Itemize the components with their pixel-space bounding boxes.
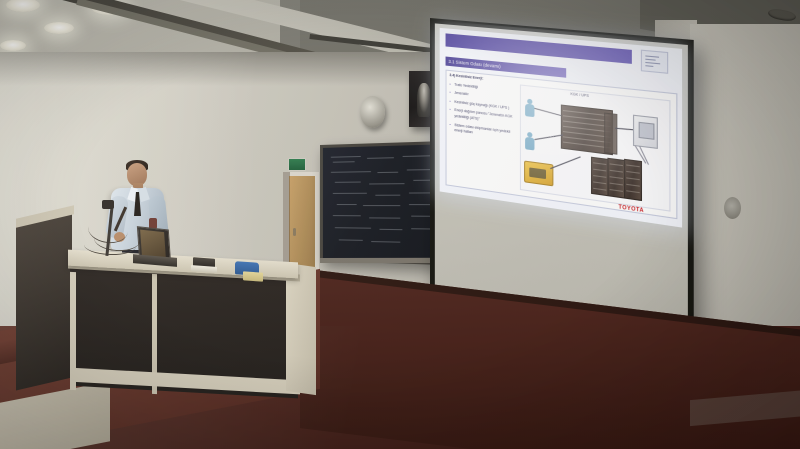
downlight-icon xyxy=(0,40,26,51)
lecture-hall-photo: 3.1 Sistem Odası (devamı) 3.4) Kesintisi… xyxy=(0,0,800,449)
generator-icon xyxy=(524,161,553,187)
podium-left-wing xyxy=(16,208,72,391)
clock-face-icon xyxy=(724,197,741,219)
server-rack-icon xyxy=(607,158,625,199)
server-rack-icon xyxy=(591,157,609,197)
portrait-figure xyxy=(417,83,431,117)
slide-bullet-list: 3.4) Kesintisiz Enerji: Trafo Yedekliliğ… xyxy=(449,73,515,191)
exit-sign-icon xyxy=(288,158,306,171)
door-handle[interactable] xyxy=(293,228,296,236)
personnel-icon xyxy=(525,98,534,117)
slide-diagram xyxy=(520,84,671,211)
wall-clock xyxy=(360,96,385,128)
server-rack-icon xyxy=(624,159,642,201)
distribution-panel-icon xyxy=(633,115,658,149)
ups-rack-side xyxy=(604,113,617,155)
podium-right-end xyxy=(286,263,316,395)
microphone-icon[interactable] xyxy=(102,200,114,209)
slide-corner-logo xyxy=(641,50,668,74)
downlight-icon xyxy=(44,22,74,34)
beige-box[interactable] xyxy=(243,271,263,281)
personnel-icon xyxy=(525,132,534,151)
